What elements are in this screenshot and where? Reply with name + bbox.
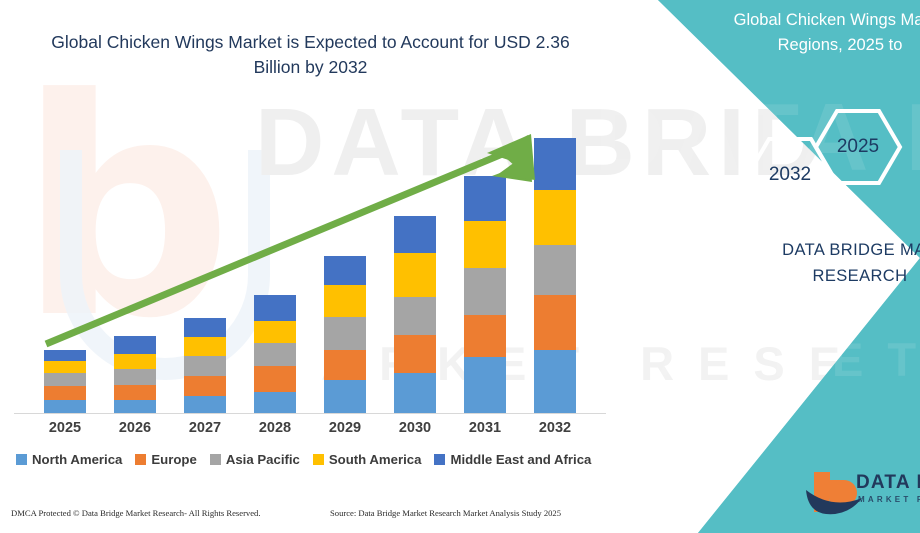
x-axis-label-2025: 2025 [30, 420, 100, 436]
bar-segment [254, 295, 296, 321]
bar-segment [44, 361, 86, 373]
legend-label: North America [32, 452, 122, 467]
bar-2027 [184, 318, 226, 413]
footer-dmca-text: DMCA Protected © Data Bridge Market Rese… [11, 508, 261, 518]
chart-legend: North AmericaEuropeAsia PacificSouth Ame… [16, 452, 606, 467]
logo-title: DATA BRI [856, 472, 920, 494]
year-hexagons: 2032 2025 [745, 108, 920, 208]
bar-segment [464, 221, 506, 268]
bar-segment [114, 369, 156, 385]
bar-segment [534, 190, 576, 245]
legend-swatch-icon [16, 454, 27, 465]
x-axis-label-2028: 2028 [240, 420, 310, 436]
bar-segment [394, 297, 436, 335]
legend-swatch-icon [434, 454, 445, 465]
panel-brand-line-1: DATA BRIDGE MAR [782, 241, 920, 259]
legend-swatch-icon [313, 454, 324, 465]
bar-segment [324, 317, 366, 350]
bar-segment [394, 216, 436, 253]
hexagon-2025: 2025 [813, 108, 903, 186]
panel-brand-text: DATA BRIDGE MAR RESEARCH [710, 238, 920, 289]
legend-swatch-icon [135, 454, 146, 465]
bar-segment [184, 376, 226, 396]
bar-segment [184, 396, 226, 413]
legend-item-asia-pacific[interactable]: Asia Pacific [210, 452, 300, 467]
bar-segment [534, 295, 576, 350]
bar-2029 [324, 256, 366, 413]
x-axis-label-2027: 2027 [170, 420, 240, 436]
panel-brand-line-2: RESEARCH [710, 264, 920, 290]
bar-segment [534, 245, 576, 295]
legend-label: Europe [151, 452, 196, 467]
footer: DMCA Protected © Data Bridge Market Rese… [0, 505, 620, 527]
bar-2026 [114, 336, 156, 413]
bar-segment [114, 336, 156, 354]
company-logo: DATA BRI MARKET RES [800, 468, 920, 520]
bar-segment [114, 354, 156, 369]
bar-segment [44, 373, 86, 386]
x-axis-label-2026: 2026 [100, 420, 170, 436]
bar-2025 [44, 350, 86, 413]
bar-segment [254, 392, 296, 413]
bar-segment [114, 385, 156, 400]
legend-item-south-america[interactable]: South America [313, 452, 422, 467]
bar-segment [394, 253, 436, 297]
legend-item-north-america[interactable]: North America [16, 452, 122, 467]
bar-segment [464, 315, 506, 357]
bar-segment [324, 256, 366, 285]
bar-segment [184, 318, 226, 337]
legend-label: Asia Pacific [226, 452, 300, 467]
brand-panel: DATA BRIDGE MARKET RESEARCH Global Chick… [600, 0, 920, 533]
logo-subtitle: MARKET RES [858, 495, 920, 504]
bar-segment [44, 350, 86, 361]
panel-title: Global Chicken Wings Marke Regions, 2025… [690, 8, 920, 58]
bar-segment [44, 400, 86, 413]
panel-title-line-2: Regions, 2025 to [690, 33, 920, 58]
x-axis-label-2029: 2029 [310, 420, 380, 436]
bar-segment [464, 176, 506, 221]
legend-item-europe[interactable]: Europe [135, 452, 196, 467]
hexagon-2025-label: 2025 [837, 136, 879, 158]
x-axis-label-2030: 2030 [380, 420, 450, 436]
legend-item-middle-east-and-africa[interactable]: Middle East and Africa [434, 452, 591, 467]
bar-segment [184, 337, 226, 356]
bar-segment [394, 335, 436, 373]
infographic-canvas: b DATA BRIDGE MARKET RESEARCH Global Chi… [0, 0, 920, 533]
panel-title-line-1: Global Chicken Wings Marke [734, 11, 920, 29]
hexagon-2032-label: 2032 [769, 164, 811, 186]
bar-segment [184, 356, 226, 376]
bar-segment [464, 357, 506, 413]
legend-label: Middle East and Africa [450, 452, 591, 467]
bar-2032 [534, 138, 576, 413]
bar-segment [254, 321, 296, 343]
footer-source-text: Source: Data Bridge Market Research Mark… [330, 508, 561, 518]
bar-segment [534, 138, 576, 190]
x-axis-label-2031: 2031 [450, 420, 520, 436]
bar-segment [464, 268, 506, 315]
legend-swatch-icon [210, 454, 221, 465]
bar-segment [44, 386, 86, 400]
chart-bars [0, 110, 620, 413]
bar-segment [324, 285, 366, 317]
bar-segment [254, 366, 296, 392]
bar-segment [534, 350, 576, 413]
bar-segment [394, 373, 436, 413]
chart-baseline [14, 413, 606, 414]
bar-segment [254, 343, 296, 366]
x-axis-label-2032: 2032 [520, 420, 590, 436]
bar-2028 [254, 295, 296, 413]
bar-2031 [464, 176, 506, 413]
chart-x-axis: 20252026202720282029203020312032 [0, 420, 620, 442]
legend-label: South America [329, 452, 422, 467]
panel-watermark-2: MARKET RESEARCH [600, 336, 920, 383]
bar-segment [324, 350, 366, 380]
stacked-bar-chart [0, 110, 620, 415]
bar-segment [114, 400, 156, 413]
bar-2030 [394, 216, 436, 413]
bar-segment [324, 380, 366, 413]
page-title: Global Chicken Wings Market is Expected … [38, 30, 583, 81]
